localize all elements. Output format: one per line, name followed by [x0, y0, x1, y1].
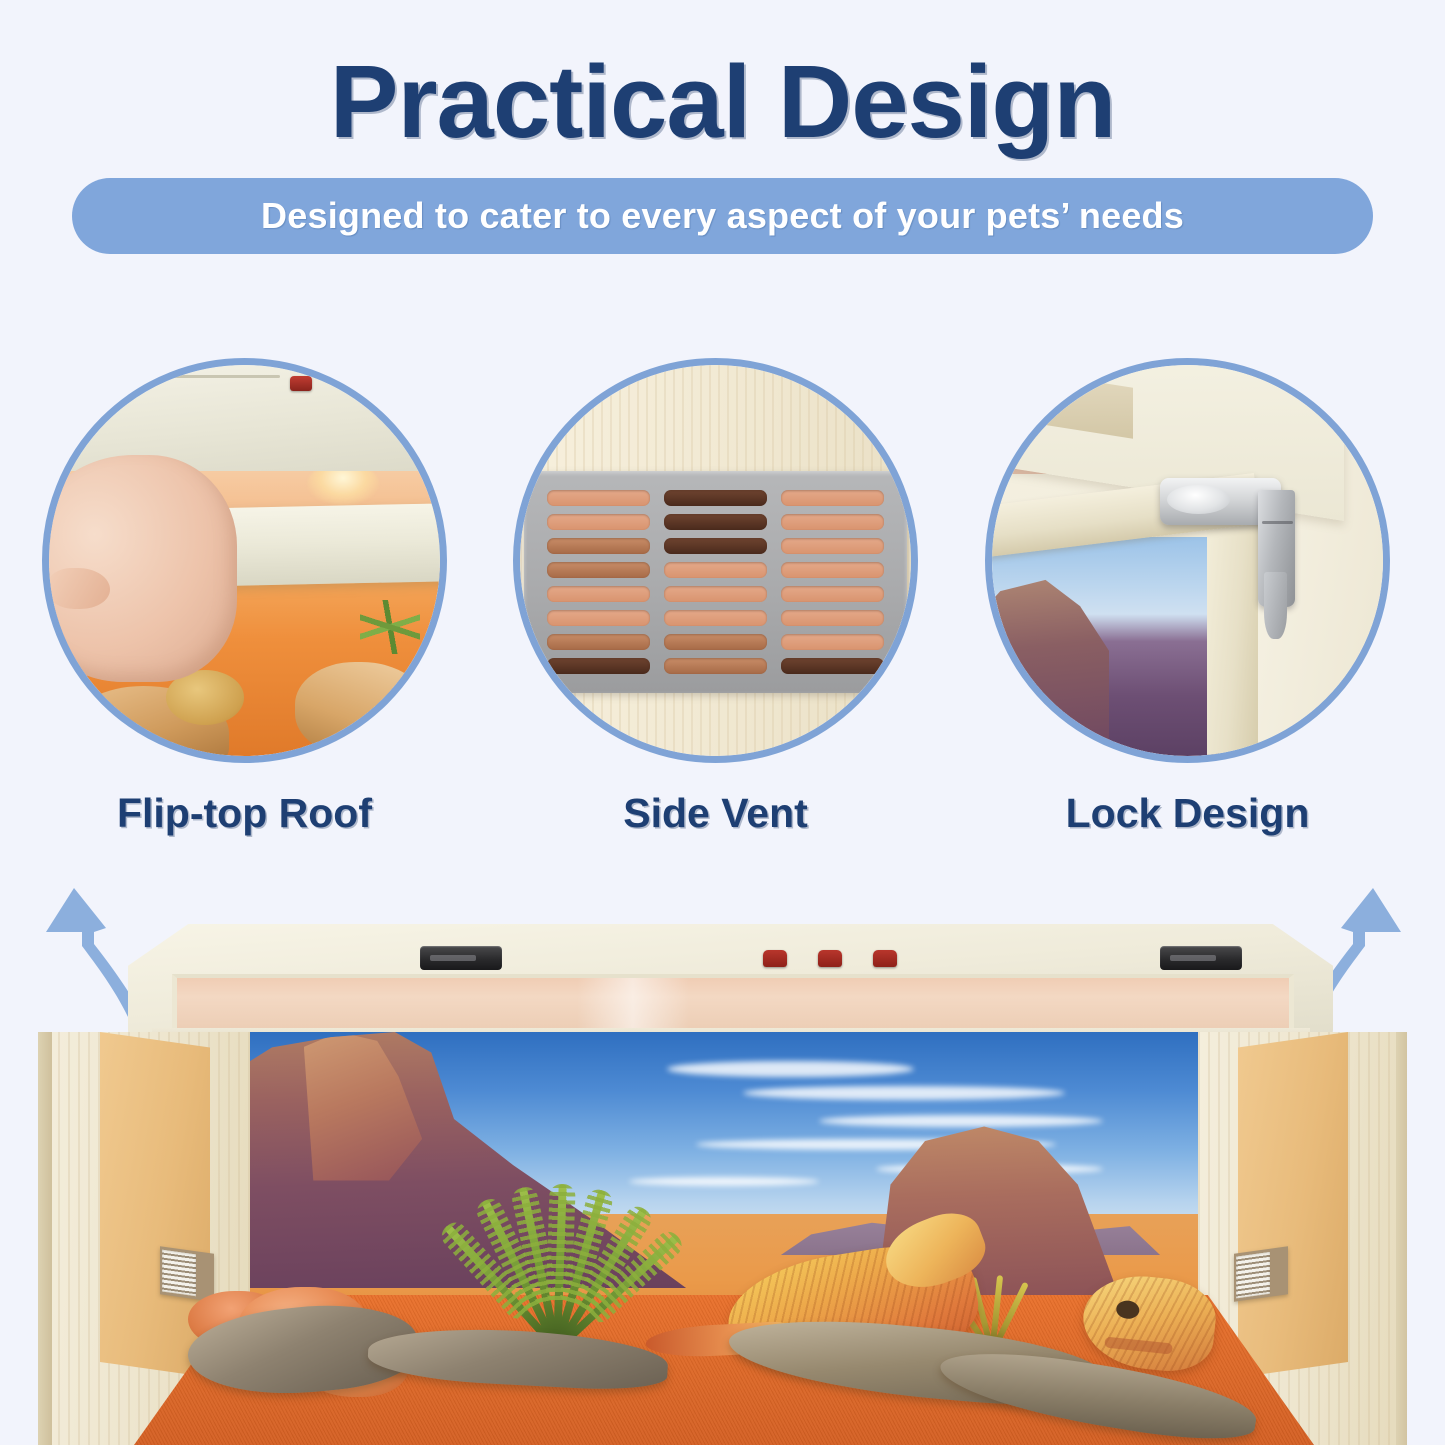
- feature-image-lock-design: [985, 358, 1390, 763]
- feature-side-vent: Side Vent: [513, 358, 918, 858]
- hand-icon: [49, 455, 237, 682]
- feature-image-side-vent: [513, 358, 918, 763]
- feature-caption-flip-top-roof: Flip-top Roof: [42, 790, 447, 837]
- feature-circles-row: Flip-top Roof: [0, 358, 1445, 858]
- subtitle-text: Designed to cater to every aspect of you…: [261, 195, 1184, 237]
- plant-icon: [360, 600, 420, 654]
- vent-grille-icon: [524, 471, 907, 694]
- lid-knob-icon: [763, 950, 787, 967]
- side-vent-left-icon: [160, 1246, 214, 1302]
- lid-latch-right-icon: [1160, 946, 1242, 970]
- side-vent-right-icon: [1234, 1246, 1288, 1302]
- lid-knob-icon: [290, 376, 312, 391]
- feature-caption-lock-design: Lock Design: [985, 790, 1390, 837]
- lid-knob-icon: [873, 950, 897, 967]
- lid-latch-left-icon: [420, 946, 502, 970]
- feature-image-flip-top-roof: [42, 358, 447, 763]
- inner-panel-right: [1238, 1032, 1348, 1377]
- page-title: Practical Design: [0, 46, 1445, 157]
- product-terrarium-image: [0, 920, 1445, 1445]
- lid-knob-icon: [345, 376, 367, 391]
- terrarium-body: [38, 1032, 1410, 1445]
- subtitle-banner: Designed to cater to every aspect of you…: [72, 178, 1373, 254]
- feature-caption-side-vent: Side Vent: [513, 790, 918, 837]
- lid-knob-icon: [818, 950, 842, 967]
- feature-flip-top-roof: Flip-top Roof: [42, 358, 447, 858]
- lock-hook-icon: [1264, 572, 1287, 638]
- infographic-page: Practical Design Designed to cater to ev…: [0, 0, 1445, 1445]
- lid-light-well: [172, 974, 1294, 1032]
- feature-lock-design: Lock Design: [985, 358, 1390, 858]
- fern-plant: [458, 1184, 648, 1349]
